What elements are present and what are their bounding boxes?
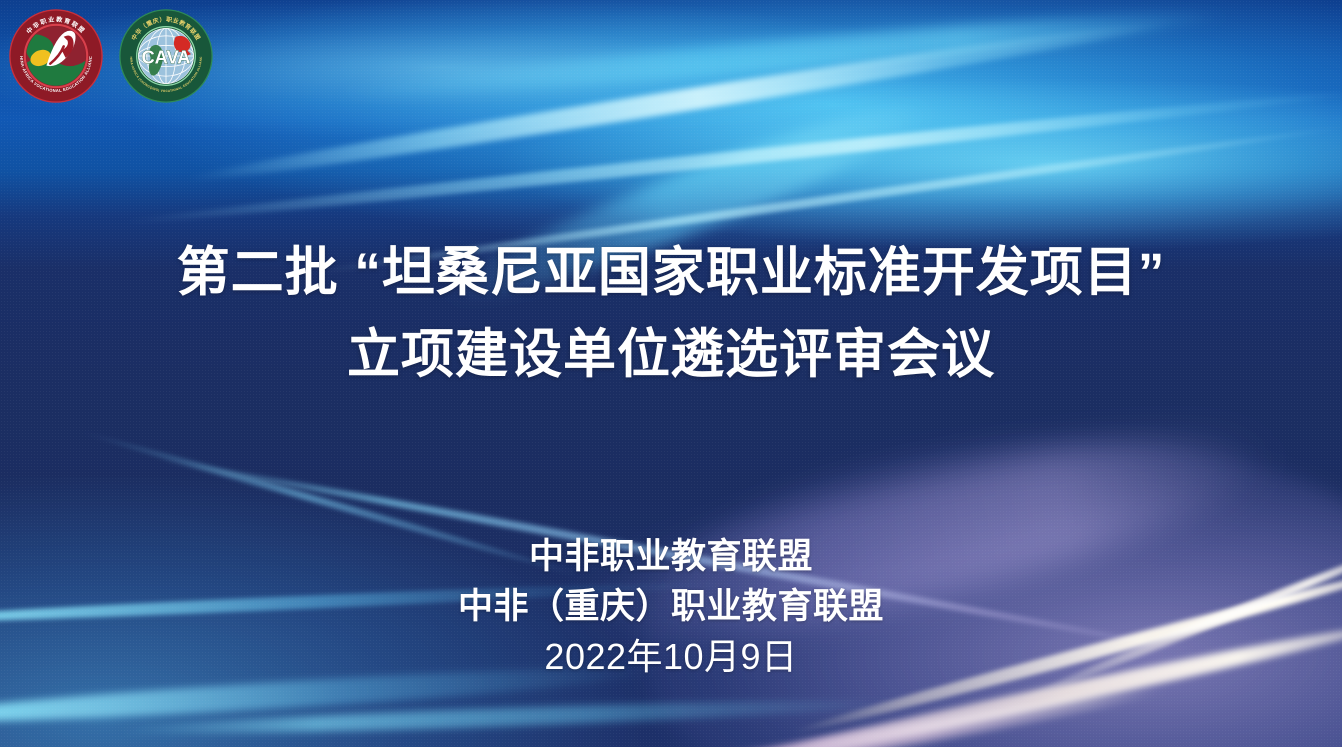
title-line-2: 立项建设单位遴选评审会议 — [0, 314, 1342, 396]
title-line-1: 第二批 “坦桑尼亚国家职业标准开发项目” — [0, 232, 1342, 314]
light-ribbon-top-2 — [123, 85, 1342, 230]
slide-title: 第二批 “坦桑尼亚国家职业标准开发项目” 立项建设单位遴选评审会议 — [0, 232, 1342, 396]
light-ribbon-top-1 — [184, 12, 1175, 190]
svg-text:CAVA: CAVA — [142, 47, 191, 68]
cava-chongqing-logo: CAVA 中华（重庆）职业教育联盟 CHINA-AFRICA (CHONGQIN… — [116, 8, 212, 104]
logo-row: 中非职业教育联盟 CHINA-AFRICA VOCATIONAL EDUCATI… — [8, 8, 212, 104]
subtitle-date: 2022年10月9日 — [0, 632, 1342, 682]
aurora-pink-streak — [515, 678, 1169, 747]
cyan-streak-3 — [120, 694, 900, 739]
title-slide: 中非职业教育联盟 CHINA-AFRICA VOCATIONAL EDUCATI… — [0, 0, 1342, 747]
subtitle-line-2: 中非（重庆）职业教育联盟 — [0, 582, 1342, 632]
subtitle-line-1: 中非职业教育联盟 — [0, 532, 1342, 582]
slide-subtitle: 中非职业教育联盟 中非（重庆）职业教育联盟 2022年10月9日 — [0, 532, 1342, 682]
cava-alliance-logo: 中非职业教育联盟 CHINA-AFRICA VOCATIONAL EDUCATI… — [8, 8, 104, 104]
light-ribbon-wide — [330, 1, 1229, 109]
